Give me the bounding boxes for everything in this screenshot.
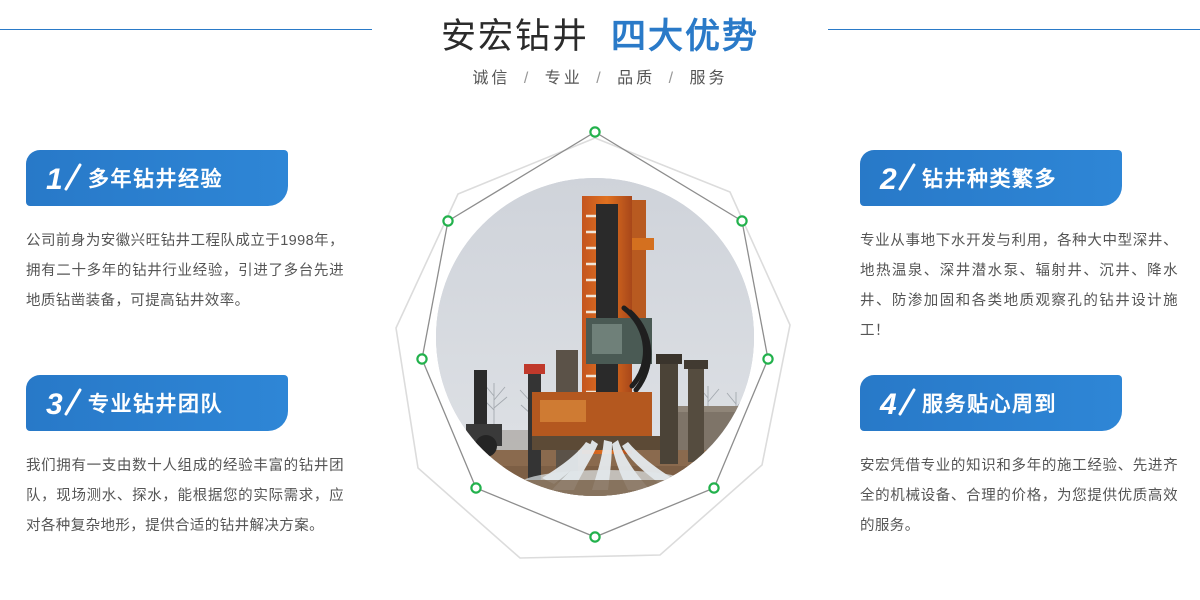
subtitle-item-2: 品质: [617, 70, 655, 87]
feature-card-3-body: 专业从事地下水开发与利用，各种大中型深井、地热温泉、深井潜水泵、辐射井、沉井、降…: [860, 226, 1178, 346]
feature-card-2-title: 专业钻井团队: [88, 388, 223, 418]
feature-card-1: 1 多年钻井经验 公司前身为安徽兴旺钻井工程队成立于1998年，拥有二十多年的钻…: [26, 150, 346, 316]
feature-card-2: 3 专业钻井团队 我们拥有一支由数十人组成的经验丰富的钻井团队，现场测水、探水，…: [26, 375, 346, 541]
vertex-dot: [737, 216, 746, 225]
vertex-dot: [417, 354, 426, 363]
vertex-dot: [471, 483, 480, 492]
drilling-rig-illustration: [436, 178, 754, 496]
page-title: 安宏钻井四大优势: [0, 8, 1200, 59]
subtitle-item-1: 专业: [545, 70, 583, 87]
feature-card-1-title: 多年钻井经验: [88, 163, 223, 193]
number-2-icon: 2: [878, 158, 920, 198]
subtitle-item-3: 服务: [690, 70, 728, 87]
center-graphic: [370, 110, 820, 590]
drilling-rig-photo: [436, 178, 754, 496]
subtitle-separator-2: /: [669, 70, 676, 87]
feature-card-3: 2 钻井种类繁多 专业从事地下水开发与利用，各种大中型深井、地热温泉、深井潜水泵…: [860, 150, 1180, 346]
vertex-dot: [763, 354, 772, 363]
feature-card-2-body: 我们拥有一支由数十人组成的经验丰富的钻井团队，现场测水、探水，能根据您的实际需求…: [26, 451, 344, 541]
vertex-dot: [590, 127, 599, 136]
number-1-icon: 1: [44, 158, 86, 198]
subtitle: 诚信 / 专业 / 品质 / 服务: [0, 64, 1200, 88]
subtitle-separator-1: /: [596, 70, 603, 87]
feature-card-3-title: 钻井种类繁多: [922, 163, 1057, 193]
feature-card-4-body: 安宏凭借专业的知识和多年的施工经验、先进齐全的机械设备、合理的价格，为您提供优质…: [860, 451, 1178, 541]
title-brand: 安宏钻井: [441, 17, 589, 56]
vertex-dot: [590, 532, 599, 541]
subtitle-separator-0: /: [524, 70, 531, 87]
svg-text:4: 4: [879, 388, 897, 421]
number-3-icon: 3: [44, 383, 86, 423]
vertex-dot: [709, 483, 718, 492]
section-header: 安宏钻井四大优势 诚信 / 专业 / 品质 / 服务: [0, 0, 1200, 110]
svg-text:2: 2: [879, 163, 897, 196]
subtitle-item-0: 诚信: [472, 70, 510, 87]
vertex-dot: [443, 216, 452, 225]
feature-card-1-body: 公司前身为安徽兴旺钻井工程队成立于1998年，拥有二十多年的钻井行业经验，引进了…: [26, 226, 344, 316]
svg-text:1: 1: [46, 163, 63, 196]
svg-text:3: 3: [46, 388, 63, 421]
feature-card-4-header: 4 服务贴心周到: [860, 375, 1122, 431]
feature-card-2-header: 3 专业钻井团队: [26, 375, 288, 431]
feature-card-1-header: 1 多年钻井经验: [26, 150, 288, 206]
number-4-icon: 4: [878, 383, 920, 423]
feature-advantages-section: 安宏钻井四大优势 诚信 / 专业 / 品质 / 服务: [0, 0, 1200, 600]
feature-card-4: 4 服务贴心周到 安宏凭借专业的知识和多年的施工经验、先进齐全的机械设备、合理的…: [860, 375, 1180, 541]
feature-card-4-title: 服务贴心周到: [922, 388, 1057, 418]
feature-card-3-header: 2 钻井种类繁多: [860, 150, 1122, 206]
title-accent: 四大优势: [611, 17, 759, 56]
